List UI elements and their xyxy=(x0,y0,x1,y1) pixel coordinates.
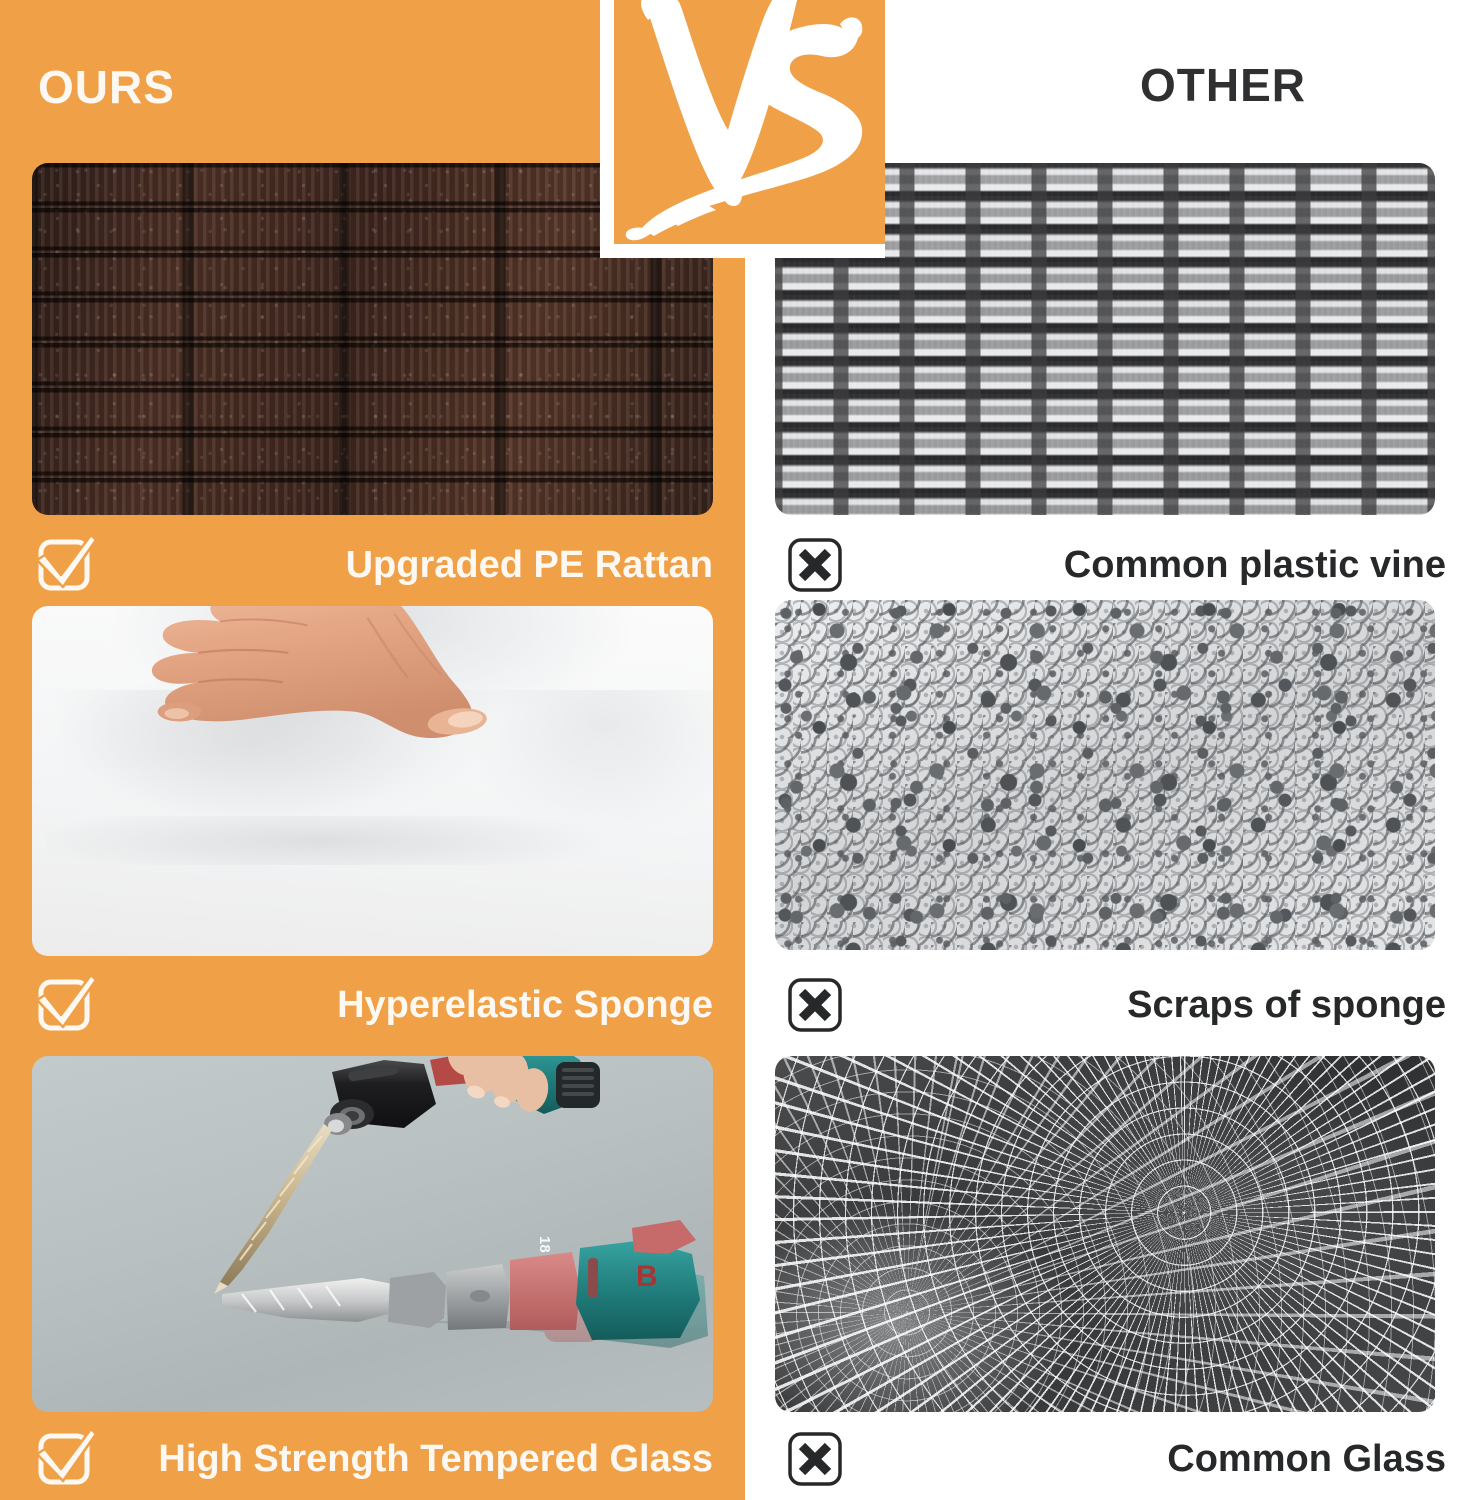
ours-caption-row-2: Hyperelastic Sponge xyxy=(34,968,713,1042)
checkbox-x-icon xyxy=(786,536,844,594)
other-caption-row-2: Scraps of sponge xyxy=(786,968,1446,1042)
vs-badge-inner xyxy=(614,0,885,244)
ours-heading: OURS xyxy=(38,64,175,110)
checkbox-check-icon xyxy=(34,973,98,1037)
drill-illustration: B xyxy=(32,1056,713,1412)
ours-label-row-2: Hyperelastic Sponge xyxy=(98,984,713,1027)
foam-shadow xyxy=(46,816,700,865)
other-label-row-1: Common plastic vine xyxy=(844,544,1446,587)
ours-label-row-3: High Strength Tempered Glass xyxy=(98,1438,713,1481)
vs-brush-icon xyxy=(614,0,885,244)
other-caption-row-3: Common Glass xyxy=(786,1424,1446,1494)
checkbox-check-icon xyxy=(34,533,98,597)
other-caption-row-1: Common plastic vine xyxy=(786,528,1446,602)
other-heading: OTHER xyxy=(1140,62,1306,108)
ours-label-row-1: Upgraded PE Rattan xyxy=(98,544,713,587)
vs-badge xyxy=(600,0,885,258)
hand-pressing-foam xyxy=(114,606,577,792)
other-label-row-3: Common Glass xyxy=(844,1438,1446,1481)
checkbox-x-icon xyxy=(786,976,844,1034)
ours-foam-image xyxy=(32,606,713,956)
svg-text:18: 18 xyxy=(536,1236,553,1253)
ours-caption-row-1: Upgraded PE Rattan xyxy=(34,528,713,602)
comparison-infographic: OURS OTHER Upgraded PE Rattan Common pla… xyxy=(0,0,1466,1500)
svg-text:B: B xyxy=(636,1260,658,1293)
ours-caption-row-3: High Strength Tempered Glass xyxy=(34,1424,713,1494)
checkbox-x-icon xyxy=(786,1430,844,1488)
other-common-glass-image xyxy=(775,1056,1435,1412)
other-label-row-2: Scraps of sponge xyxy=(844,984,1446,1027)
checkbox-check-icon xyxy=(34,1427,98,1491)
other-sponge-image xyxy=(775,600,1435,950)
ours-tempered-glass-image: B xyxy=(32,1056,713,1412)
